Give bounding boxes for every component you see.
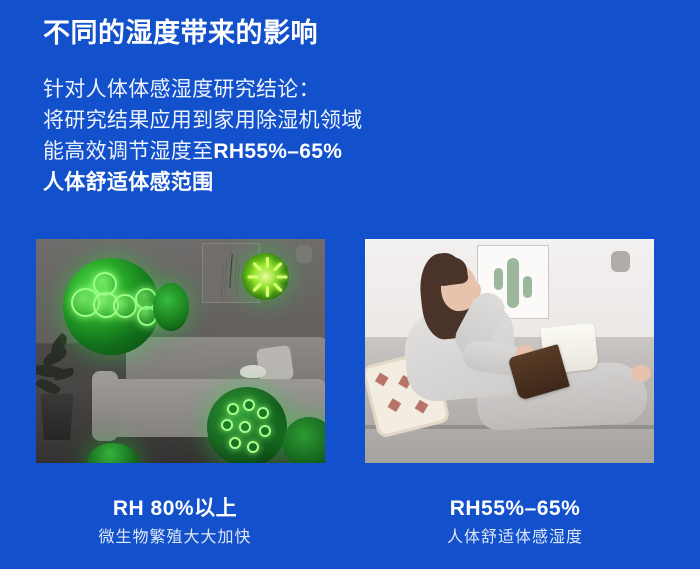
virus-receptor	[257, 407, 269, 419]
virus-receptor	[247, 441, 259, 453]
virus-spike	[272, 261, 282, 271]
virus-orb-small	[242, 253, 289, 300]
image-panel-high-humidity	[36, 239, 325, 463]
virus-receptor	[221, 419, 233, 431]
microbe-orb-large	[63, 258, 160, 355]
dark-room-illustration	[36, 239, 325, 463]
wall-knob-icon	[611, 251, 630, 272]
twig-icon	[229, 254, 232, 288]
woman-hand-at-head	[465, 281, 481, 299]
virus-spike	[252, 261, 262, 271]
image-panel-comfort-humidity	[365, 239, 654, 463]
caption-subtitle: 微生物繁殖大大加快	[10, 527, 340, 549]
virus-spike	[266, 257, 269, 268]
virus-receptor	[229, 437, 241, 449]
microbe-orb-edge	[153, 283, 189, 331]
virus-receptor	[243, 399, 255, 411]
virus-spike	[252, 282, 262, 292]
virus-orb-large	[207, 387, 287, 463]
sofa-cushion	[256, 345, 294, 383]
virus-spike	[276, 275, 287, 278]
image-panel-group	[0, 239, 700, 464]
body-line-3-prefix: 能高效调节湿度至	[43, 140, 213, 163]
poster-root: 不同的湿度带来的影响 针对人体体感湿度研究结论： 将研究结果应用到家用除湿机领域…	[0, 0, 700, 569]
virus-receptor	[227, 403, 239, 415]
sofa-arm	[92, 371, 118, 441]
bright-room-illustration	[365, 239, 654, 463]
caption-group: RH 80%以上 微生物繁殖大大加快 RH55%–65% 人体舒适体感湿度	[0, 495, 700, 565]
virus-receptor	[239, 421, 251, 433]
pillow-motif	[387, 398, 401, 412]
pillow-motif	[375, 373, 389, 387]
page-title: 不同的湿度带来的影响	[43, 17, 318, 49]
wall-knob-icon	[296, 245, 312, 263]
virus-spike	[266, 286, 269, 297]
virus-spike	[247, 275, 258, 278]
body-line-3: 能高效调节湿度至RH55%–65%	[43, 136, 363, 167]
body-line-4: 人体舒适体感范围	[43, 167, 363, 198]
body-line-1: 针对人体体感湿度研究结论：	[43, 74, 363, 105]
caption-subtitle: 人体舒适体感湿度	[350, 527, 680, 549]
plant-pot	[38, 394, 76, 440]
caption-title: RH55%–65%	[350, 495, 680, 523]
caption-high-humidity: RH 80%以上 微生物繁殖大大加快	[10, 495, 340, 549]
body-line-3-highlight: RH55%–65%	[213, 140, 342, 163]
pillow-motif	[415, 400, 429, 414]
virus-spike	[272, 282, 282, 292]
cactus-icon	[507, 258, 519, 308]
microbe-bubble	[113, 294, 137, 318]
body-line-2: 将研究结果应用到家用除湿机领域	[43, 105, 363, 136]
body-copy: 针对人体体感湿度研究结论： 将研究结果应用到家用除湿机领域 能高效调节湿度至RH…	[43, 74, 363, 198]
caption-title: RH 80%以上	[10, 495, 340, 523]
vase-icon	[240, 365, 266, 378]
caption-comfort-humidity: RH55%–65% 人体舒适体感湿度	[350, 495, 680, 549]
virus-receptor	[259, 425, 271, 437]
woman-foot	[631, 365, 651, 382]
